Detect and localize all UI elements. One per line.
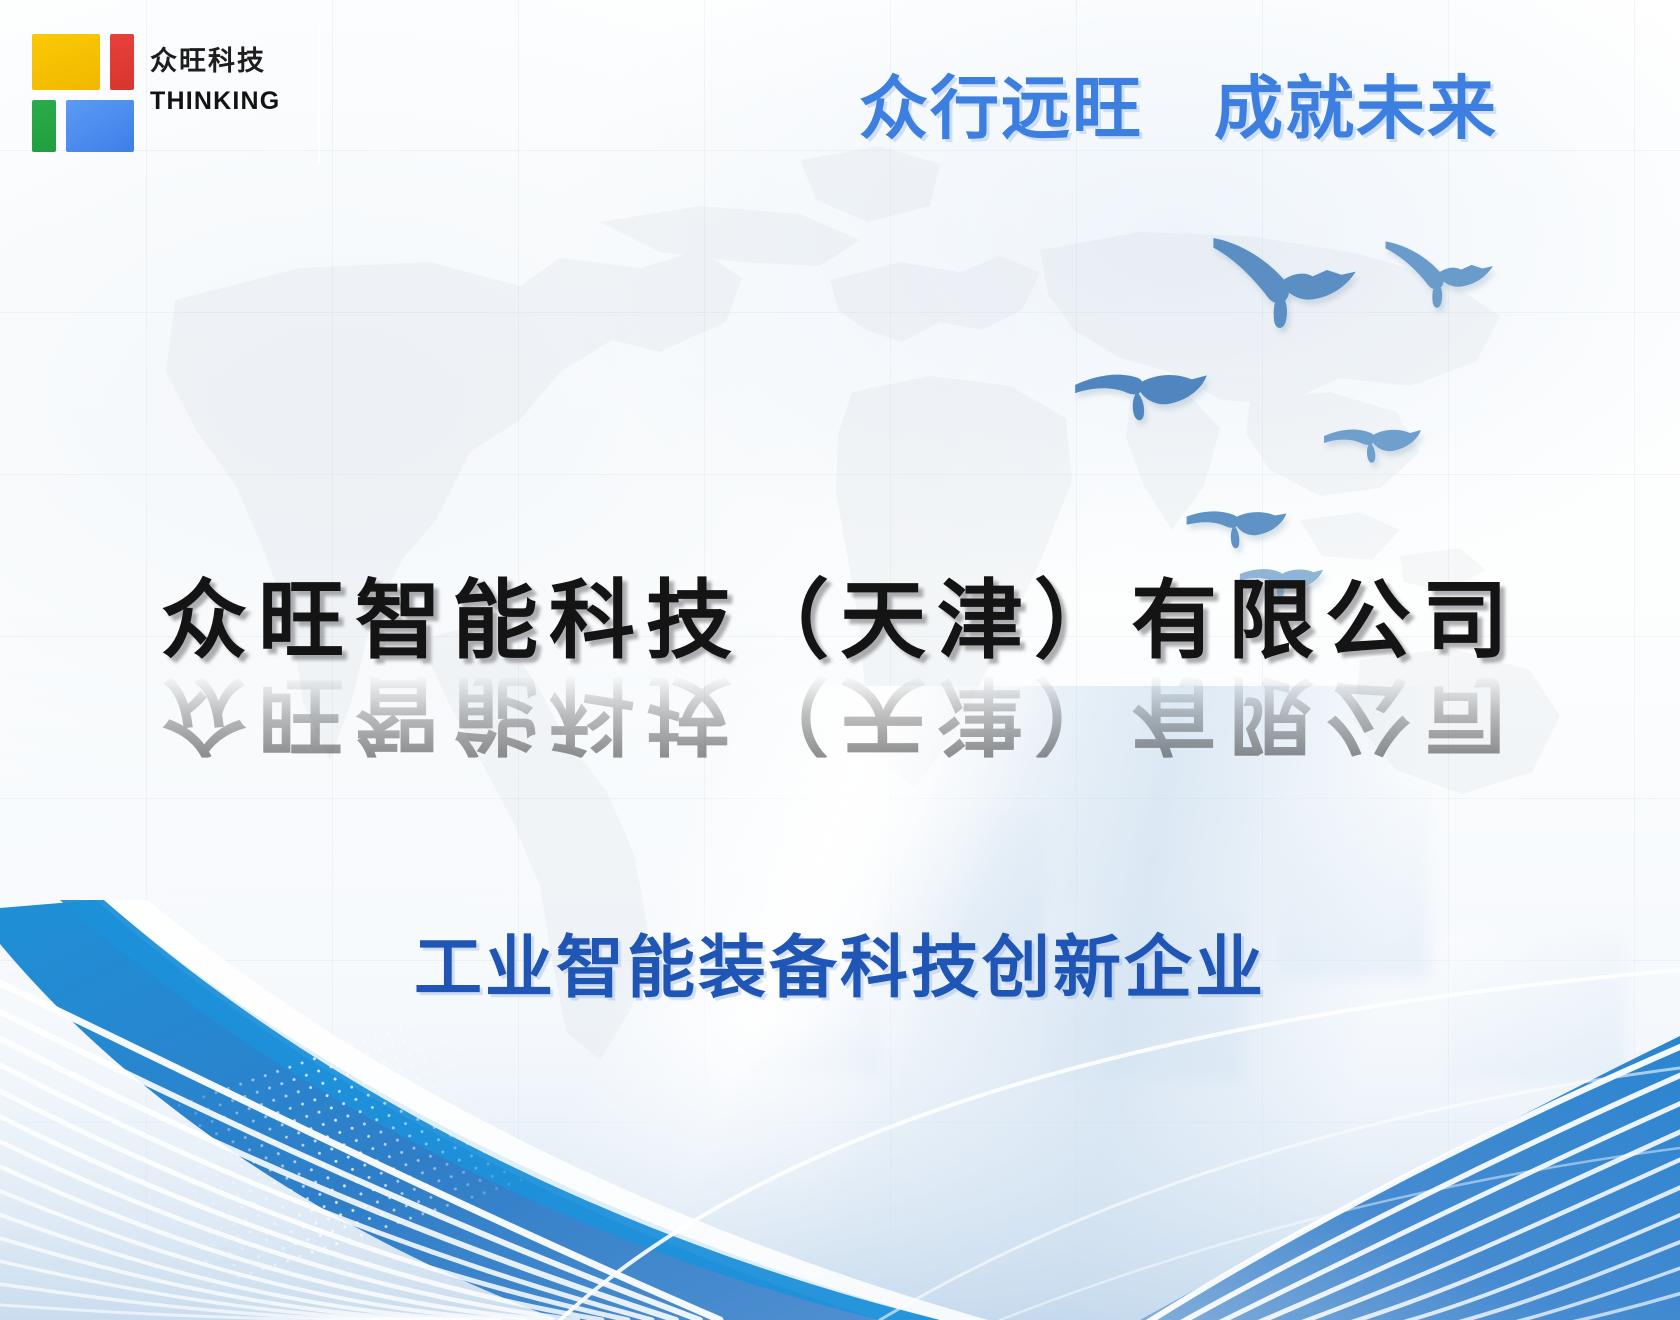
company-logo-mark-icon [32, 34, 136, 152]
seagull-icon [1207, 222, 1367, 334]
seagull-icon [1184, 496, 1288, 568]
seagull-icon [1322, 414, 1422, 484]
company-logo-text: 众旺科技 THINKING [150, 48, 298, 114]
logo-green-tile-icon [32, 100, 56, 152]
logo-divider [318, 20, 320, 164]
presentation-slide: 众旺科技 THINKING 众行远旺 成就未来 众旺智能科技（天津）有限公司 众… [0, 0, 1680, 1320]
seagull-icon [1072, 352, 1210, 448]
slide-header: 众旺科技 THINKING 众行远旺 成就未来 [0, 0, 1680, 190]
logo-name-en: THINKING [150, 89, 298, 114]
logo-red-tile-icon [110, 34, 134, 90]
seagull-icon [1382, 230, 1500, 314]
header-slogan: 众行远旺 成就未来 [859, 52, 1498, 152]
bottom-wave-decoration [0, 900, 1680, 1320]
logo-blue-tile-icon [66, 100, 134, 152]
logo-yellow-tile-icon [32, 34, 100, 90]
logo-name-cn: 众旺科技 [150, 48, 298, 75]
page-title-reflection: 众旺智能科技（天津）有限公司 [0, 670, 1680, 758]
page-title: 众旺智能科技（天津）有限公司 [0, 578, 1680, 666]
title-block: 众旺智能科技（天津）有限公司 众旺智能科技（天津）有限公司 [0, 578, 1680, 757]
